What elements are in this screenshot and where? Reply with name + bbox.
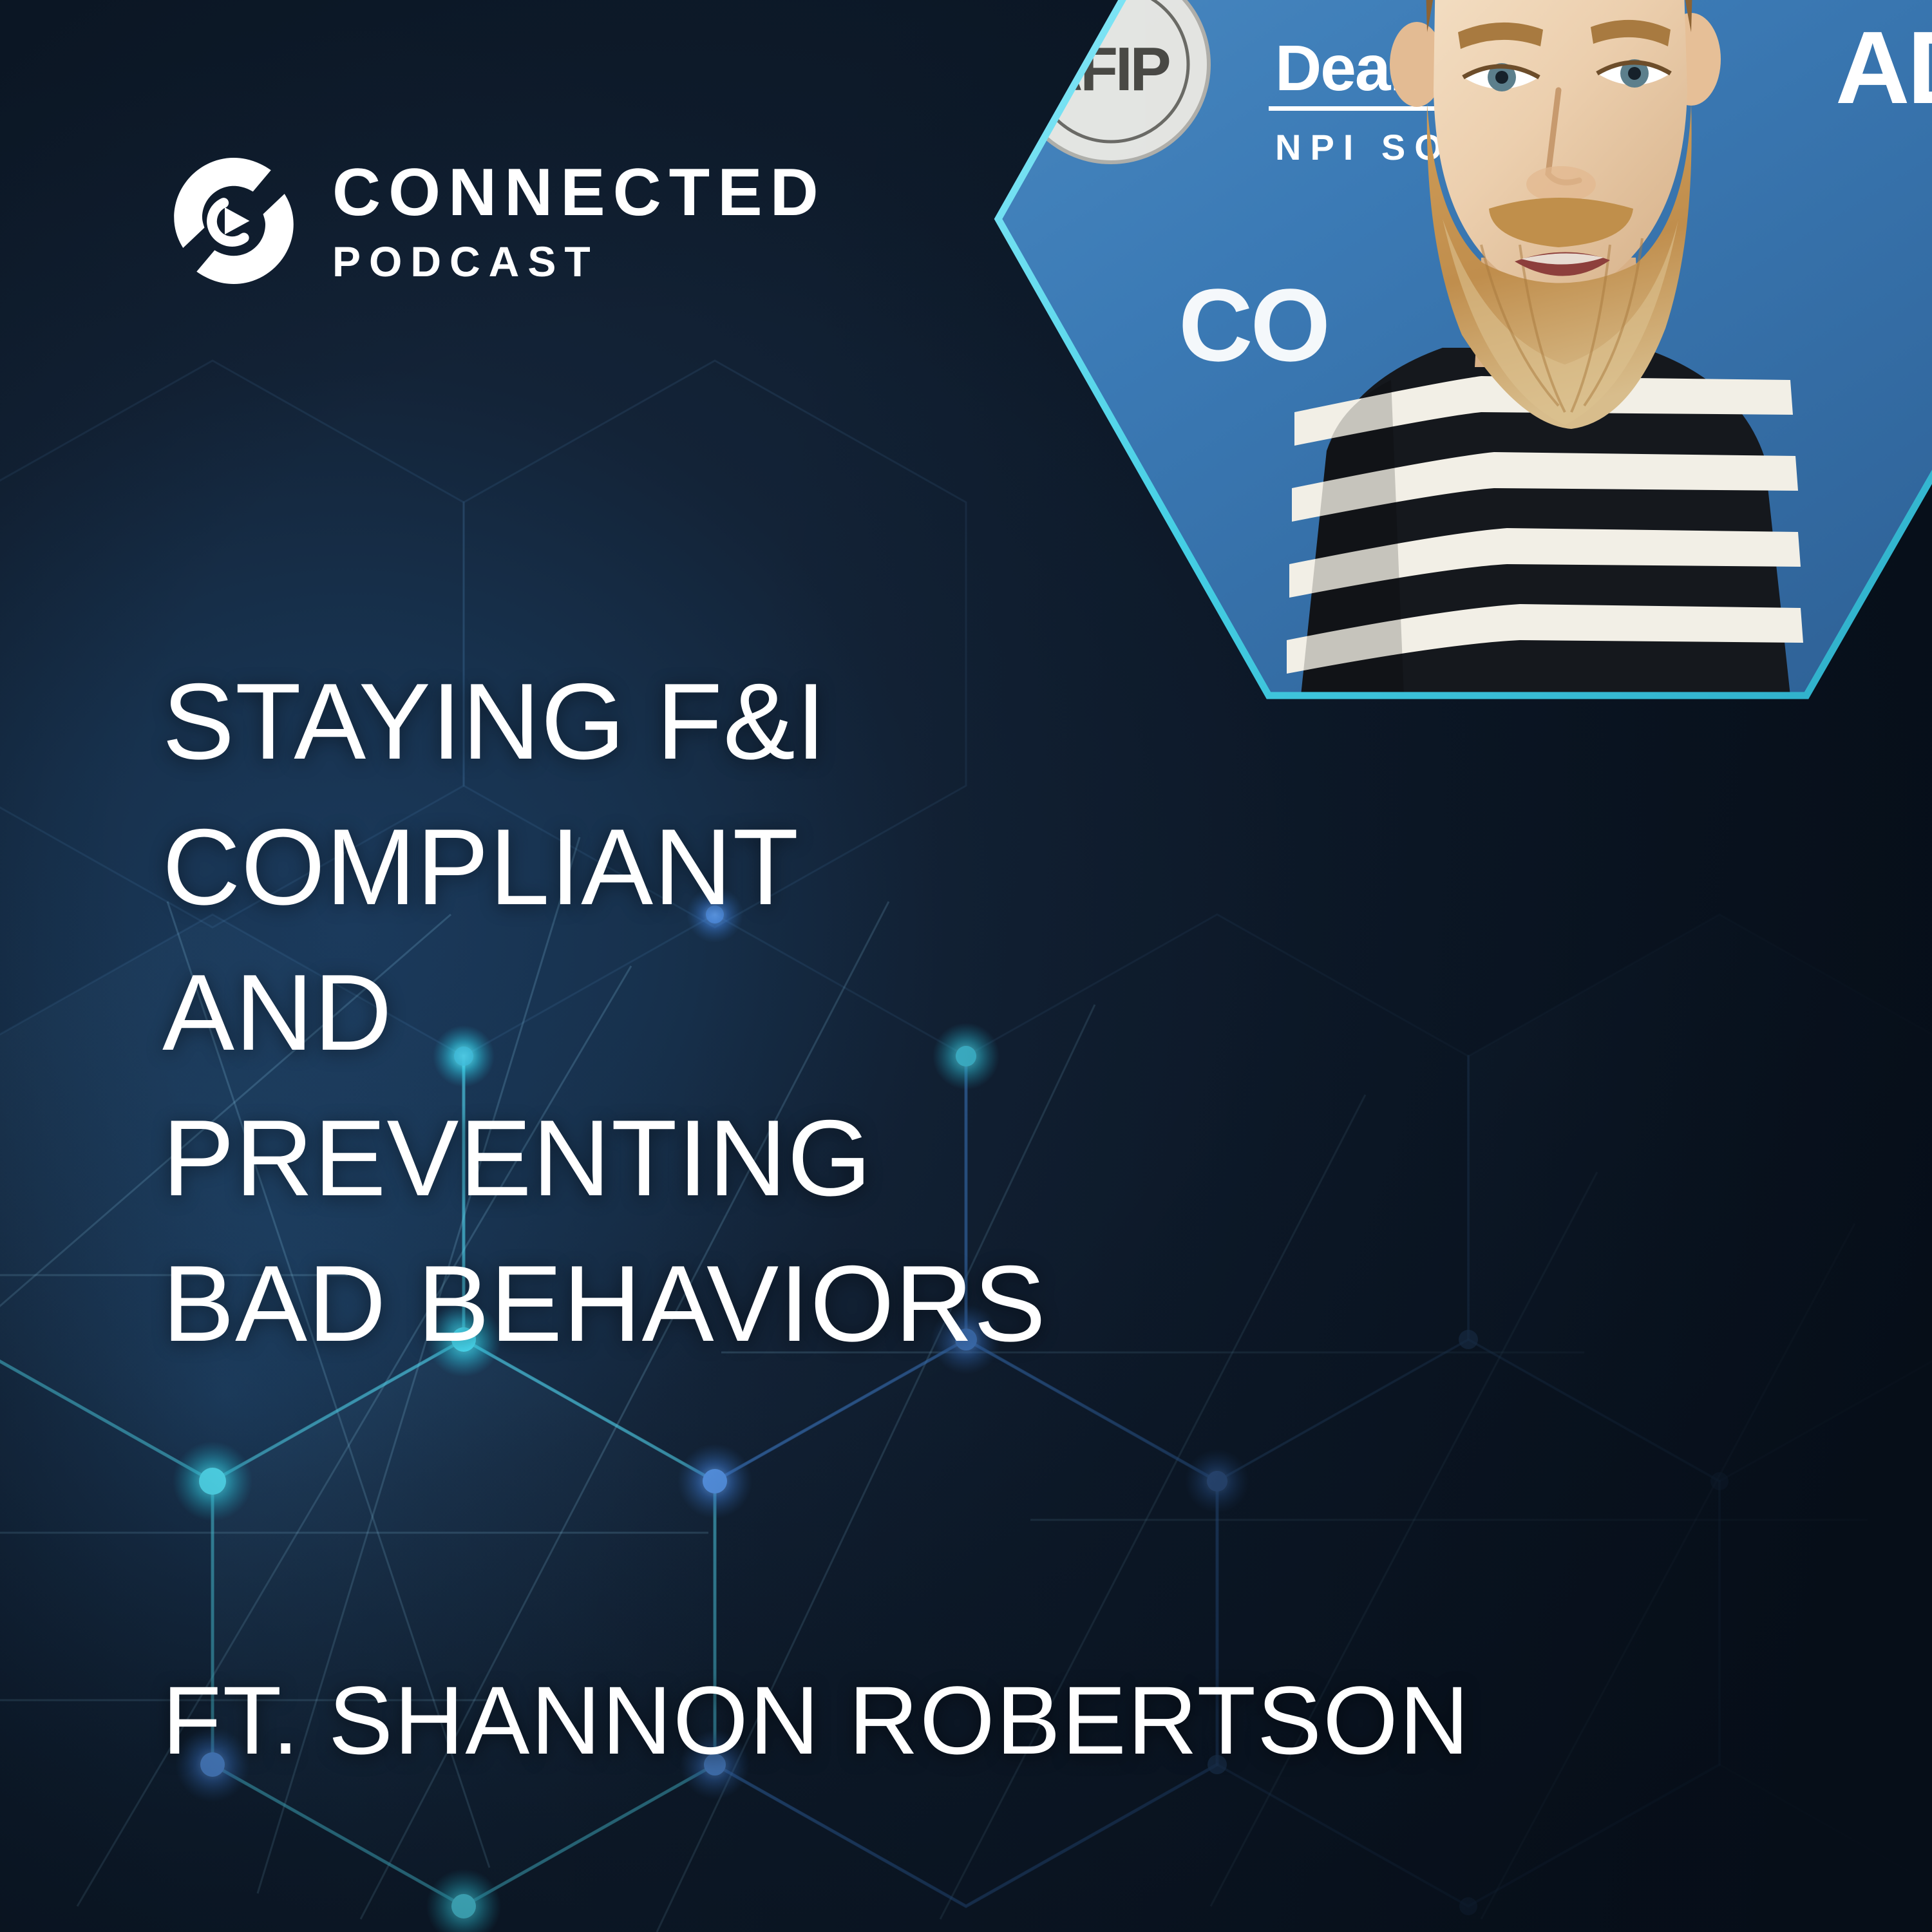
brand-logo-lockup: CONNECTED PODCAST: [166, 153, 826, 289]
episode-title-line-2: COMPLIANT: [162, 813, 1489, 921]
episode-title-line-4: PREVENTING: [162, 1104, 1489, 1212]
brand-name-sub: PODCAST: [332, 240, 826, 283]
svg-text:CO: CO: [1179, 267, 1328, 383]
episode-title: STAYING F&I COMPLIANT AND PREVENTING BAD…: [162, 667, 1489, 1358]
episode-title-line-3: AND: [162, 958, 1489, 1066]
guest-credit: FT. SHANNON ROBERTSON: [162, 1672, 1470, 1768]
episode-title-line-5: BAD BEHAVIORS: [162, 1249, 1489, 1358]
backdrop-adco-wordmark-logo-lower: CO: [1179, 267, 1328, 383]
backdrop-adco-wordmark-logo: ADCO: [1835, 10, 1932, 125]
svg-text:ADCO: ADCO: [1835, 10, 1932, 125]
podcast-cover-art: ASSOCIATION OF DEALERSHIP COMPLIANCE OFF…: [0, 0, 1932, 1932]
brand-name-main: CONNECTED: [332, 159, 826, 226]
svg-text:AFIP: AFIP: [1038, 35, 1170, 104]
svg-text:NPI SO: NPI SO: [1275, 127, 1452, 167]
connected-swirl-play-logo-icon: [166, 153, 301, 289]
episode-title-line-1: STAYING F&I: [162, 667, 1489, 775]
